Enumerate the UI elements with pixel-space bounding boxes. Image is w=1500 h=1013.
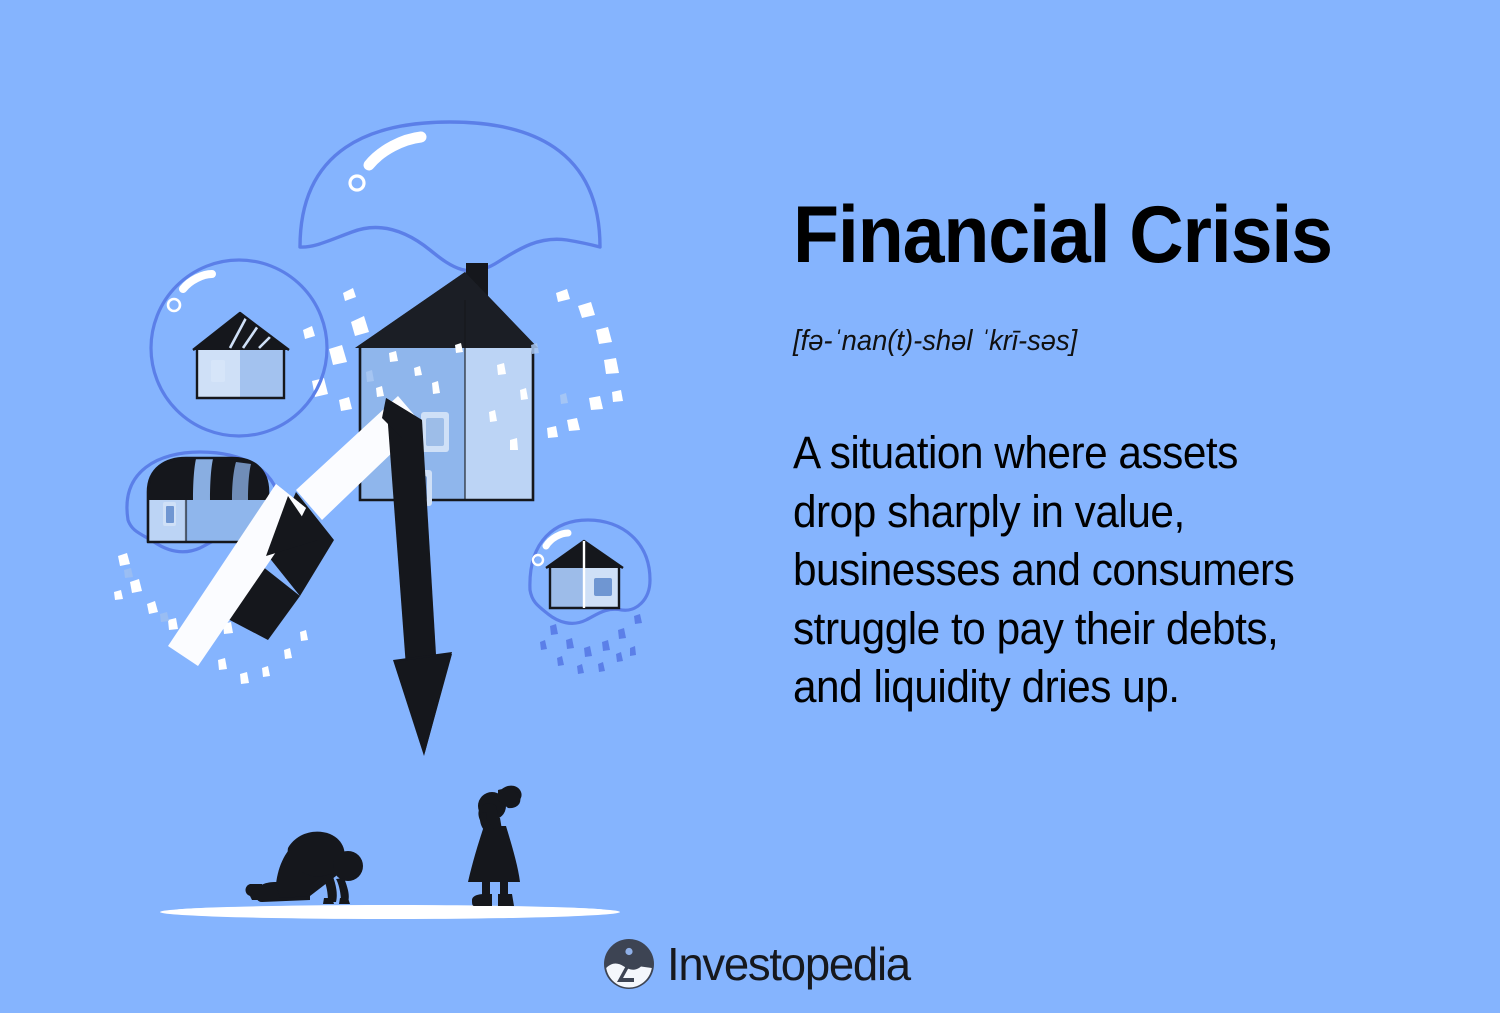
bubble-house-striped (151, 260, 327, 436)
definition-line: and liquidity dries up. (793, 658, 1470, 717)
illustration (0, 0, 780, 1013)
main-house (352, 263, 538, 506)
bubble-highlight-dot-large (350, 176, 364, 190)
bubble-outline-large (300, 122, 600, 271)
definition-line: drop sharply in value, (793, 483, 1470, 542)
definition-line: businesses and consumers (793, 541, 1470, 600)
investopedia-logo: Investopedia (603, 938, 912, 990)
investopedia-mark-icon (603, 938, 655, 990)
large-popping-bubble (300, 122, 600, 271)
pronunciation: [fə-ˈnan(t)-shəl ˈkrī-səs] (793, 325, 1446, 358)
text-column: Financial Crisis [fə-ˈnan(t)-shəl ˈkrī-s… (793, 196, 1473, 717)
brand-name: Investopedia (667, 941, 910, 987)
infographic-card: Financial Crisis [fə-ˈnan(t)-shəl ˈkrī-s… (0, 0, 1500, 1013)
definition-line: struggle to pay their debts, (793, 600, 1470, 659)
bubble-small-house (530, 520, 650, 623)
definition-text: A situation where assets drop sharply in… (793, 424, 1470, 717)
figure-kneeling (246, 832, 364, 904)
page-title: Financial Crisis (793, 196, 1425, 275)
definition-line: A situation where assets (793, 424, 1470, 483)
bubble-highlight-large (369, 137, 421, 165)
particles-small-house (540, 614, 642, 674)
figure-standing (468, 786, 522, 906)
